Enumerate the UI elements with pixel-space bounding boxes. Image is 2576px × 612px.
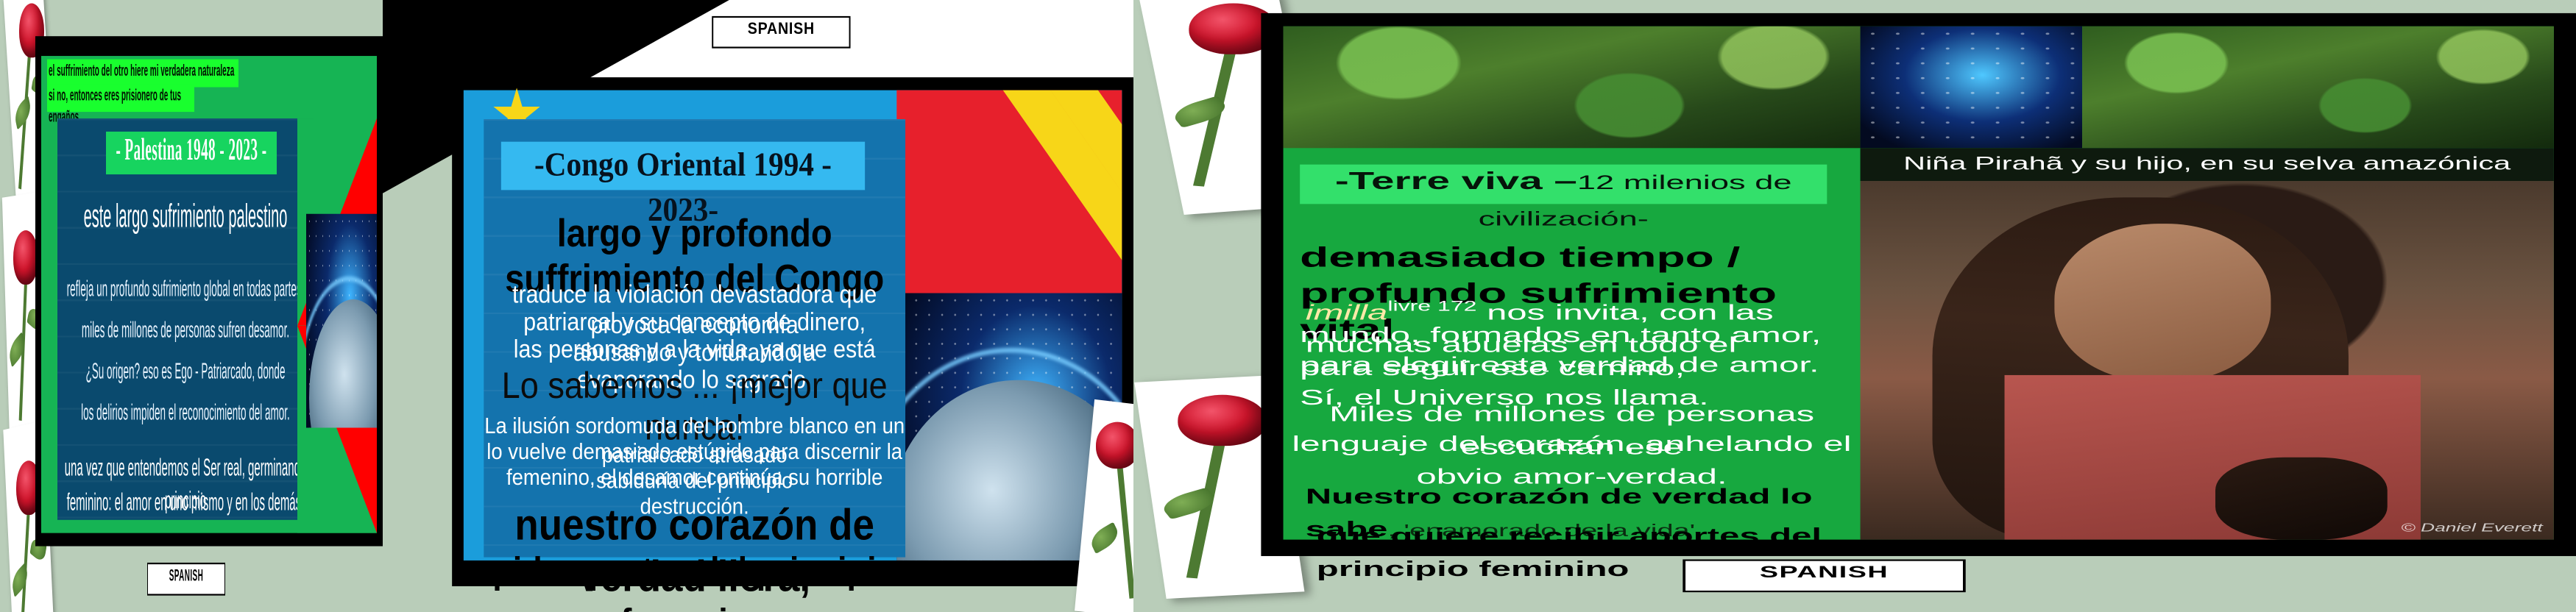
- congo-flag-graphic: [896, 90, 1122, 293]
- rose-head: [1178, 395, 1267, 446]
- terre-text-area: -Terre viva –12 milenios de civilización…: [1284, 148, 1861, 539]
- palestina-line-2: miles de millones de personas sufren des…: [57, 316, 314, 344]
- photo-watermark: © Daniel Everett: [2401, 523, 2543, 535]
- palestina-closing-2: feminino: el amor en uno mismo y en los …: [57, 487, 314, 520]
- congo-title: -Congo Oriental 1994 - 2023-: [501, 142, 865, 191]
- rose-decoration-group-2: [1081, 386, 1133, 612]
- terre-title-main: -Terre viva –: [1335, 168, 1577, 196]
- rose-head: [13, 230, 38, 285]
- terre-screen: Niña Pirahã y su hijo, en su selva amazó…: [1284, 26, 2554, 540]
- photo-caption-bar: Niña Pirahã y su hijo, en su selva amazó…: [1861, 148, 2554, 181]
- terre-viva-panel: Niña Pirahã y su hijo, en su selva amazó…: [1133, 0, 2576, 612]
- banner-line-2: si no, entonces eres prisionero de tus e…: [47, 84, 194, 112]
- terre-title: -Terre viva –12 milenios de civilización…: [1300, 165, 1827, 204]
- star-speckles: [1861, 26, 2083, 149]
- pirahã-mother-photo: © Daniel Everett: [1861, 181, 2554, 540]
- palestina-panel: el suffrimiento del otro hiere mi verdad…: [0, 0, 383, 612]
- palestina-title: - Palestina 1948 - 2023 -: [106, 132, 277, 174]
- earth-image: [306, 214, 377, 428]
- palestina-line-1: refleja un profundo sufrimiento global e…: [57, 275, 314, 303]
- palestina-screen: el suffrimiento del otro hiere mi verdad…: [41, 56, 377, 533]
- spanish-tab-panel2[interactable]: SPANISH: [712, 16, 850, 49]
- terre-tv-frame: Niña Pirahã y su hijo, en su selva amazó…: [1261, 13, 2576, 556]
- congo-panel: SPANISH ★ -Congo Orient: [383, 0, 1133, 612]
- congo-tv-frame: ★ -Congo Oriental 1994 - 2023- largo y p…: [452, 77, 1133, 586]
- imilla-superscript: livre 172: [1387, 298, 1476, 314]
- jungle-photo-right: [2082, 26, 2554, 149]
- congo-content-card: -Congo Oriental 1994 - 2023- largo y pro…: [484, 119, 905, 558]
- congo-screen: ★ -Congo Oriental 1994 - 2023- largo y p…: [464, 90, 1122, 561]
- photo-face: [2054, 224, 2271, 382]
- photo-baby: [2215, 458, 2388, 540]
- palestina-headline: este largo sufrimiento palestino: [57, 197, 314, 237]
- rose-head: [1096, 422, 1133, 469]
- banner-line-1: el suffrimiento del otro hiere mi verdad…: [47, 60, 238, 88]
- spanish-tab-panel1[interactable]: SPANISH: [147, 563, 225, 596]
- jungle-photo: [1284, 26, 1861, 149]
- palestina-content-card: - Palestina 1948 - 2023 - este largo suf…: [57, 118, 314, 520]
- spanish-tab-panel3[interactable]: SPANISH: [1682, 559, 1965, 592]
- earth-thumbnail: [1861, 26, 2083, 149]
- congo-big-2: pide aportes del principio femenino: [484, 544, 905, 612]
- palestina-line-3: ¿Su origen? eso es Ego - Patriarcado, do…: [57, 357, 314, 385]
- palestina-tv-frame: el suffrimiento del otro hiere mi verdad…: [35, 36, 383, 546]
- palestina-line-4: los delirios impiden el reconocimiento d…: [57, 398, 314, 426]
- slide-deck-screenshot: el suffrimiento del otro hiere mi verdad…: [0, 0, 2576, 612]
